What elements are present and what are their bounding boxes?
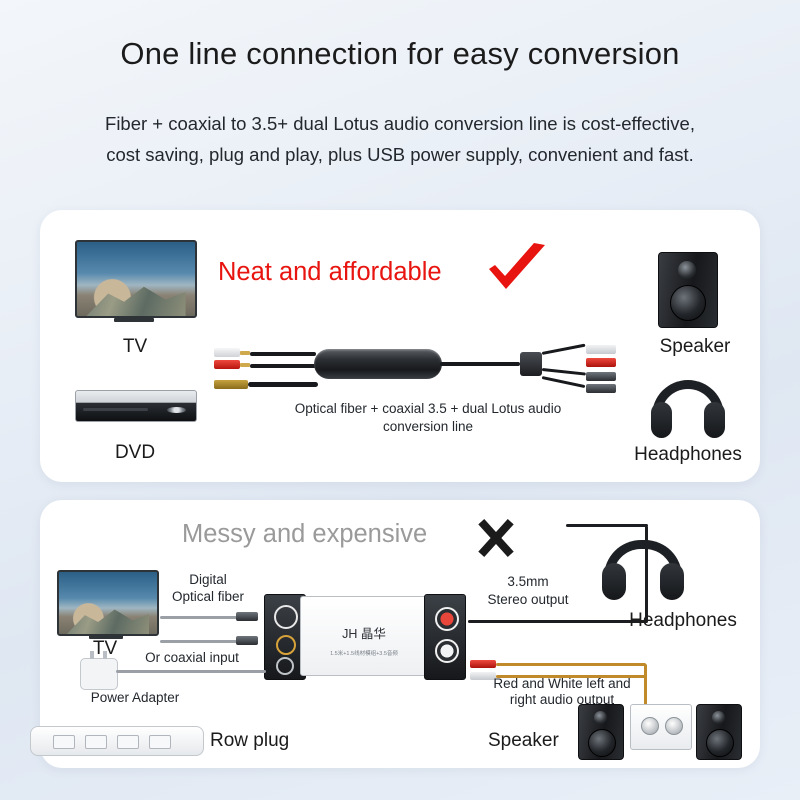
power-adapter-device (80, 658, 118, 690)
page-subtitle: Fiber + coaxial to 3.5+ dual Lotus audio… (100, 108, 700, 170)
converter-brand-label: JH 晶华 (301, 623, 427, 642)
tv-stand (114, 318, 154, 322)
tv-device-bad (57, 570, 155, 632)
cable-wire (440, 362, 520, 366)
cable-wire (250, 352, 316, 356)
speaker-device-good (658, 252, 718, 328)
coaxial-input-label: Or coaxial input (122, 650, 262, 665)
power-in-jack (276, 657, 294, 675)
row-plug-label: Row plug (210, 730, 289, 752)
dvd-slot (83, 408, 148, 411)
power-socket (85, 735, 107, 749)
amp-knob-right (665, 717, 683, 735)
rca-out-white (586, 345, 616, 354)
optical-in-jack (274, 605, 298, 629)
cable-splitter (520, 352, 542, 376)
power-adapter-label: Power Adapter (60, 690, 210, 705)
cable-wire (250, 364, 316, 368)
converter-cable-body (314, 349, 442, 379)
page-title: One line connection for easy conversion (0, 36, 800, 72)
usb-wire (248, 382, 318, 387)
headphones-label-good: Headphones (608, 444, 768, 466)
power-socket (149, 735, 171, 749)
aux-cable-top (566, 524, 648, 527)
digital-optical-label-line1: Digital (160, 572, 256, 587)
converter-right-panel (424, 594, 466, 680)
page-root: One line connection for easy conversion … (0, 0, 800, 800)
rw-output-label-line1: Red and White left and (452, 676, 672, 691)
speaker-woofer (670, 285, 706, 321)
rca-wire-red (496, 663, 646, 666)
optical-plug (236, 612, 258, 621)
dvd-disc (167, 407, 186, 414)
headphones-label-bad: Headphones (588, 610, 778, 632)
speaker-tweeter (712, 711, 725, 724)
rca-tip (240, 363, 250, 367)
speaker-woofer (588, 729, 616, 757)
power-cable (116, 670, 266, 673)
speaker-label-good: Speaker (630, 336, 760, 358)
rca-out-red (586, 358, 616, 367)
speaker-device-left (578, 704, 624, 760)
rca-barrel (214, 348, 240, 357)
power-socket (117, 735, 139, 749)
usb-connector (214, 380, 248, 389)
rca-out-jack-white (435, 639, 459, 663)
speaker-tweeter (594, 711, 607, 724)
headphone-cup-left (651, 402, 673, 438)
coaxial-plug (236, 636, 258, 645)
good-banner-text: Neat and affordable (218, 258, 442, 287)
dvd-device (75, 390, 197, 422)
stereo-output-label-line2: Stereo output (466, 592, 590, 607)
stereo-output-label-line1: 3.5mm (466, 574, 590, 589)
tv-device-good (75, 240, 193, 314)
tv-screen (75, 240, 197, 318)
check-mark-icon (486, 242, 548, 296)
rca-barrel (214, 360, 240, 369)
amp-knob-left (641, 717, 659, 735)
power-socket (53, 735, 75, 749)
dvd-label: DVD (95, 442, 175, 464)
rca-out-jack-red (435, 607, 459, 631)
tv-screen (57, 570, 159, 636)
tv-label-good: TV (95, 336, 175, 358)
cross-mark-icon (470, 516, 514, 560)
speaker-woofer (706, 729, 734, 757)
bad-banner-text: Messy and expensive (182, 520, 427, 549)
speaker-device-right (696, 704, 742, 760)
aux-out-plug (586, 372, 616, 381)
power-strip-device (30, 726, 204, 756)
aux-out-plug-2 (586, 384, 616, 393)
headphone-cup-left (602, 563, 625, 600)
rca-cable-red (470, 660, 496, 668)
product-caption: Optical fiber + coaxial 3.5 + dual Lotus… (282, 400, 574, 436)
speaker-label-bad: Speaker (488, 730, 559, 752)
headphones-device-good (652, 380, 724, 438)
speaker-tweeter (678, 261, 696, 279)
coaxial-in-jack (276, 635, 296, 655)
digital-optical-label-line2: Optical fiber (160, 589, 256, 604)
converter-sub-label: 1.5米+1.5线材模组+3.5音频 (301, 649, 427, 657)
dac-converter-device: JH 晶华 1.5米+1.5线材模组+3.5音频 (300, 596, 428, 676)
headphone-cup-right (660, 563, 683, 600)
headphone-cup-right (704, 402, 726, 438)
rca-tip (240, 351, 250, 355)
headphones-device-bad (604, 540, 682, 600)
amplifier-device (630, 704, 692, 750)
